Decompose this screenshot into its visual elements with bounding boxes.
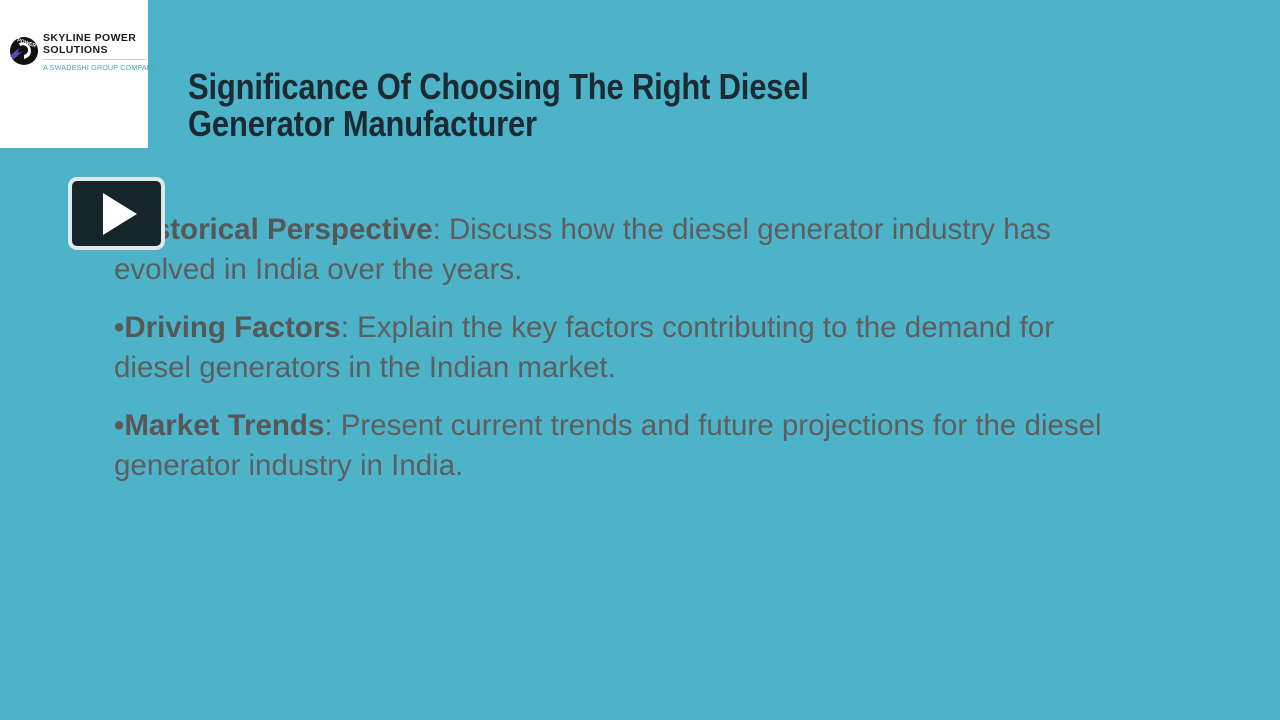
page-title: Significance Of Choosing The Right Diese…	[188, 68, 824, 142]
logo-name-line1: SKYLINE POWER	[43, 33, 157, 45]
play-button[interactable]	[68, 177, 165, 250]
play-icon	[103, 193, 137, 235]
list-item: •Market Trends: Present current trends a…	[114, 406, 1114, 486]
logo-divider	[43, 59, 147, 60]
logo-wordmark: SKYLINE POWER SOLUTIONS A SWADESHI GROUP…	[43, 32, 157, 72]
bullet-list: •Historical Perspective: Discuss how the…	[114, 210, 1114, 486]
bullet-marker: •	[114, 409, 124, 442]
bullet-label: Historical Perspective	[124, 213, 432, 246]
logo-lockup: POWER SKYLINE POWER SOLUTIONS A SWADESHI…	[6, 32, 146, 92]
list-item: •Historical Perspective: Discuss how the…	[114, 210, 1114, 290]
bullet-marker: •	[114, 311, 124, 344]
bullet-label: Market Trends	[124, 409, 324, 442]
logo-card: POWER SKYLINE POWER SOLUTIONS A SWADESHI…	[0, 0, 148, 148]
bullet-label: Driving Factors	[124, 311, 340, 344]
list-item: •Driving Factors: Explain the key factor…	[114, 308, 1114, 388]
logo-name-line2: SOLUTIONS	[43, 45, 157, 57]
logo-tagline: A SWADESHI GROUP COMPANY	[43, 63, 157, 72]
presentation-slide: POWER SKYLINE POWER SOLUTIONS A SWADESHI…	[0, 0, 1280, 720]
skyline-power-circular-badge-icon: POWER	[6, 34, 40, 68]
